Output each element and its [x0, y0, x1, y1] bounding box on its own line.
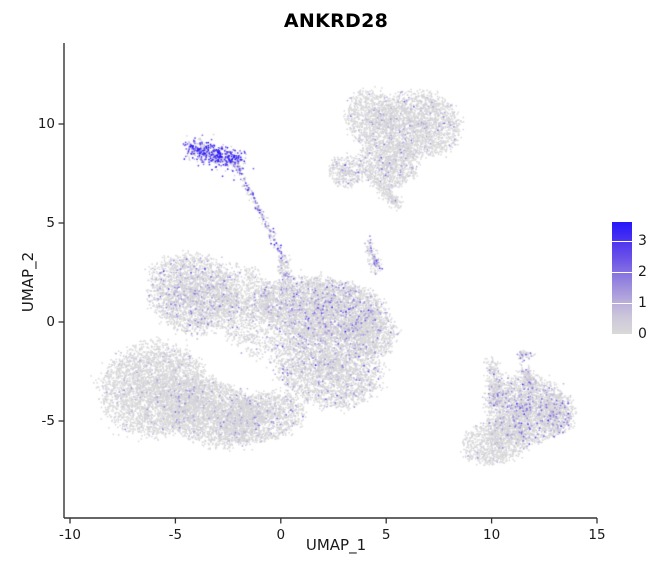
legend-tick-label: 3	[638, 233, 647, 249]
umap-feature-plot: ANKRD28 -10-5051015-50510 UMAP_1 UMAP_2 …	[0, 0, 672, 576]
legend-tick-mark	[612, 334, 632, 336]
legend-tick-mark	[612, 241, 632, 243]
legend-tick-label: 0	[638, 326, 647, 342]
legend-gradient-bar	[612, 222, 632, 334]
legend-tick-label: 1	[638, 295, 647, 311]
axes-frame	[0, 0, 672, 576]
y-tick-label: -5	[22, 413, 55, 429]
legend-tick-mark	[612, 303, 632, 305]
x-axis-label: UMAP_1	[0, 536, 672, 554]
legend-tick-mark	[612, 272, 632, 274]
y-axis-label: UMAP_2	[19, 202, 37, 362]
color-legend: 0123	[612, 222, 672, 342]
y-tick-label: 10	[22, 116, 55, 132]
legend-tick-label: 2	[638, 264, 647, 280]
